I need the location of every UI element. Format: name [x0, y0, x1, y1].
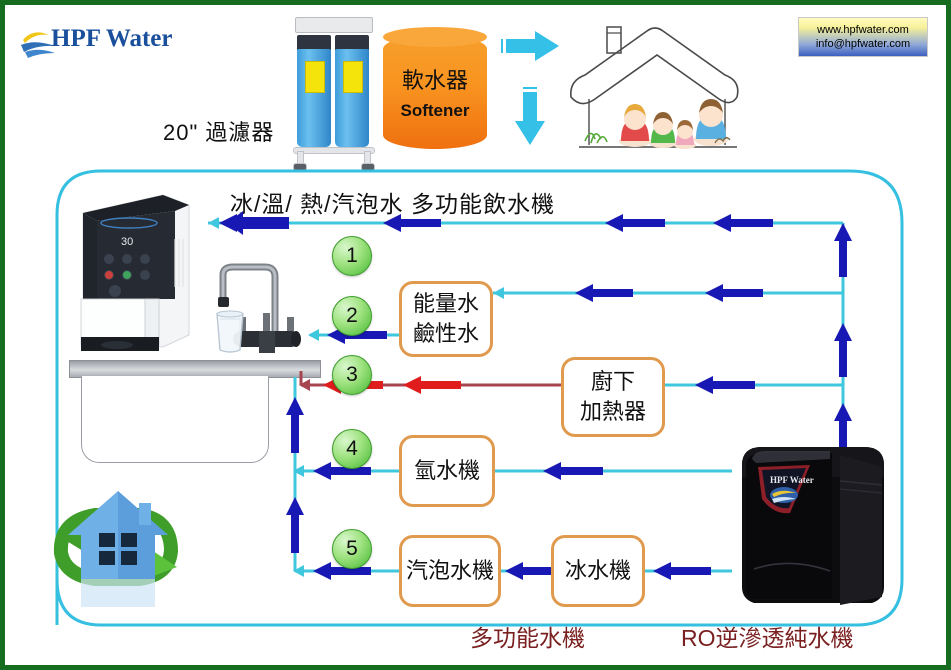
box-energy-water[interactable]: 能量水 鹼性水	[399, 281, 493, 357]
water-dispenser-icon: 30	[67, 187, 192, 357]
email-text: info@hpfwater.com	[816, 37, 910, 51]
svg-text:HPF Water: HPF Water	[770, 475, 814, 485]
softener-label-cn: 軟水器	[383, 63, 487, 95]
svg-text:30: 30	[121, 236, 133, 248]
step-number-2: 2	[332, 296, 372, 336]
step-number-3: 3	[332, 355, 372, 395]
diagram-title: 冰/溫/ 熱/汽泡水 多功能飲水機	[230, 185, 555, 219]
box-energy-water-line2: 鹼性水	[413, 319, 479, 349]
box-sparkling-water-line1: 汽泡水機	[406, 556, 494, 586]
box-hydrogen-water-line1: 氫水機	[414, 456, 480, 486]
step-number-5: 5	[332, 529, 372, 569]
filter-housing-icon	[287, 17, 379, 169]
brand-logo-text: HPF Water	[51, 25, 173, 53]
filter-label: 20" 過濾器	[163, 115, 274, 147]
box-hydrogen-water[interactable]: 氫水機	[399, 435, 495, 507]
step-number-1: 1	[332, 236, 372, 276]
contact-box: www.hpfwater.com info@hpfwater.com	[798, 17, 928, 57]
eco-house-recycle-icon	[43, 475, 193, 615]
box-ice-water-line1: 冰水機	[565, 556, 631, 586]
website-text: www.hpfwater.com	[817, 23, 909, 37]
softener-icon: 軟水器 Softener	[383, 27, 487, 157]
box-energy-water-line1: 能量水	[413, 289, 479, 319]
step-number-4: 4	[332, 429, 372, 469]
box-under-sink-heater-line1: 廚下	[591, 367, 635, 397]
box-under-sink-heater[interactable]: 廚下 加熱器	[561, 357, 665, 437]
sink-basin	[81, 376, 269, 463]
house-with-family-icon	[565, 19, 750, 159]
diagram-canvas: HPF Water www.hpfwater.com info@hpfwater…	[0, 0, 951, 670]
softener-label-en: Softener	[383, 101, 487, 121]
box-ice-water[interactable]: 冰水機	[551, 535, 645, 607]
ro-machine-icon: HPF Water	[732, 437, 904, 615]
caption-ro-machine: RO逆滲透純水機	[681, 619, 854, 653]
cyan-arrow-down-icon	[515, 83, 545, 145]
box-sparkling-water[interactable]: 汽泡水機	[399, 535, 501, 607]
cyan-arrow-right-icon	[497, 31, 559, 61]
caption-multi-function: 多功能水機	[470, 619, 585, 653]
box-under-sink-heater-line2: 加熱器	[580, 397, 646, 427]
drinking-glass-icon	[213, 310, 247, 354]
